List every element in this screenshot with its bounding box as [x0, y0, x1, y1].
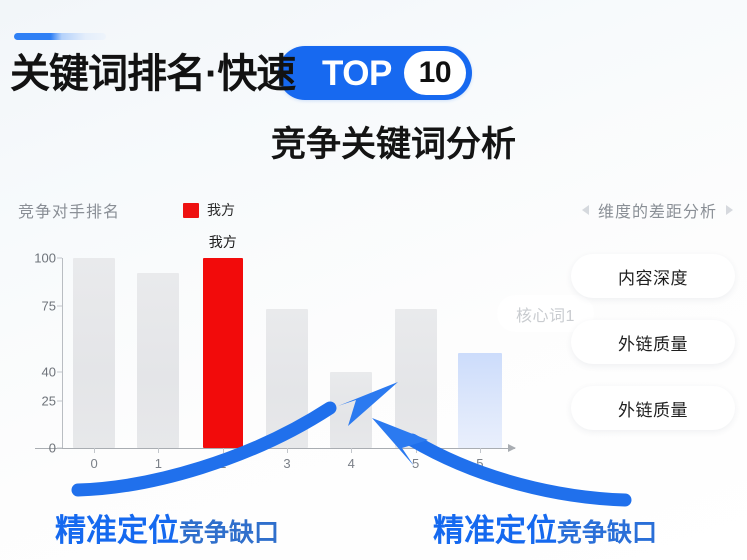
bar-chart: 我方 0254075100 0123455: [10, 250, 535, 480]
x-tick-label-0: 0: [91, 456, 98, 471]
y-tick-mark: [57, 372, 62, 373]
legend-swatch-icon: [183, 203, 199, 218]
page-subtitle: 竞争关键词分析: [0, 116, 747, 167]
top-rank-badge: TOP 10: [278, 46, 472, 100]
y-tick-label-40: 40: [26, 365, 56, 380]
bar-2-2: [203, 258, 243, 448]
y-tick-label-0: 0: [26, 441, 56, 456]
chevron-right-icon: [726, 205, 733, 215]
caption-right-primary: 精准定位: [433, 505, 557, 550]
bar-slot: [126, 258, 190, 448]
y-tick-mark: [57, 400, 62, 401]
x-tick-label-5: 5: [412, 456, 419, 471]
x-tick-mark: [223, 448, 224, 453]
caption-right: 精准定位 竞争缺口: [433, 505, 657, 550]
caption-left-secondary: 竞争缺口: [179, 513, 279, 549]
bar-slot: [255, 258, 319, 448]
bar-3-3: [266, 309, 308, 448]
poster-canvas: 关键词排名·快速 TOP 10 竞争关键词分析 竞争对手排名 我方 维度的差距分…: [0, 0, 747, 560]
x-tick-label-4: 4: [348, 456, 355, 471]
bar-slot: [62, 258, 126, 448]
legend-label: 我方: [207, 200, 235, 220]
dimension-card-2[interactable]: 外链质量: [571, 386, 735, 430]
dimension-card-0[interactable]: 内容深度: [571, 254, 735, 298]
y-tick-mark: [57, 448, 62, 449]
chart-section-label: 竞争对手排名: [18, 198, 120, 222]
bar-slot: 我方: [191, 258, 255, 448]
plot-area: 我方: [62, 258, 512, 448]
bar-slot: [448, 258, 512, 448]
chart-legend: 我方: [183, 200, 235, 220]
dimension-gap-label: 维度的差距分析: [582, 198, 733, 222]
bar-highlight-label: 我方: [209, 232, 237, 252]
page-title-text: 关键词排名·快速: [10, 54, 295, 94]
x-tick-mark: [94, 448, 95, 453]
x-tick-mark: [158, 448, 159, 453]
y-tick-label-25: 25: [26, 393, 56, 408]
y-tick-mark: [57, 305, 62, 306]
badge-label: TOP: [322, 56, 392, 91]
x-tick-mark: [287, 448, 288, 453]
chevron-left-icon: [582, 205, 589, 215]
x-tick-mark: [416, 448, 417, 453]
bar-5-5: [395, 309, 437, 448]
y-tick-label-75: 75: [26, 298, 56, 313]
y-tick-mark: [57, 258, 62, 259]
y-tick-label-100: 100: [26, 251, 56, 266]
bar-1-1: [137, 273, 179, 448]
caption-left-primary: 精准定位: [55, 505, 179, 550]
bar-5-6: [458, 353, 502, 448]
x-tick-label-2: 2: [219, 456, 226, 471]
bar-slot: [319, 258, 383, 448]
caption-left: 精准定位 竞争缺口: [55, 505, 279, 550]
caption-right-secondary: 竞争缺口: [557, 513, 657, 549]
bar-slot: [383, 258, 447, 448]
x-tick-mark: [480, 448, 481, 453]
x-tick-mark: [351, 448, 352, 453]
x-axis: [35, 448, 515, 449]
x-tick-label-6: 5: [476, 456, 483, 471]
page-title: 关键词排名·快速: [10, 46, 295, 102]
bar-group: 我方: [62, 258, 512, 448]
badge-number: 10: [404, 51, 466, 95]
dimension-card-1[interactable]: 外链质量: [571, 320, 735, 364]
dimension-card-list: 内容深度外链质量外链质量: [571, 254, 735, 430]
progress-bar-decoration: [14, 33, 106, 40]
x-tick-label-3: 3: [283, 456, 290, 471]
bar-0-0: [73, 258, 115, 448]
x-tick-label-1: 1: [155, 456, 162, 471]
bar-4-4: [330, 372, 372, 448]
dimension-gap-text: 维度的差距分析: [598, 198, 717, 222]
